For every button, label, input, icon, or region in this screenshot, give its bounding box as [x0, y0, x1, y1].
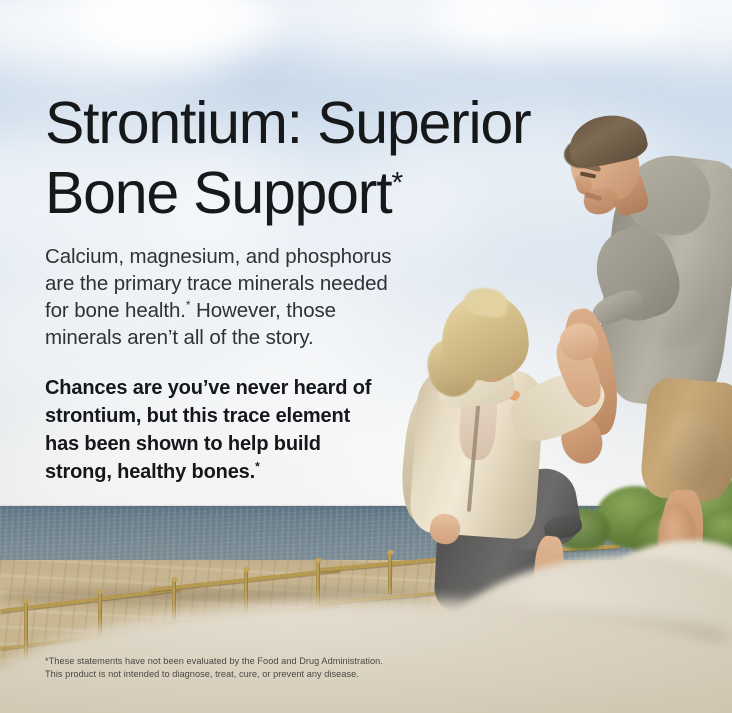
- title-line-1: Strontium: Superior: [45, 90, 530, 156]
- railing-knob: [315, 558, 322, 563]
- man-shorts-fold: [666, 412, 720, 490]
- legal-disclaimer: *These statements have not been evaluate…: [45, 655, 545, 682]
- title-line-2: Bone Support: [45, 160, 391, 226]
- intro-paragraph: Calcium, magnesium, and phosphorus are t…: [45, 243, 465, 351]
- railing-knob: [387, 550, 394, 555]
- promo-banner: Strontium: Superior Bone Support* Calciu…: [0, 0, 732, 713]
- highlight-line-1: Chances are you’ve never heard of: [45, 377, 371, 399]
- highlight-line-2: strontium, but this trace element: [45, 405, 350, 427]
- intro-line-3b: However, those: [190, 299, 336, 322]
- footnote-marker-icon: *: [255, 459, 260, 473]
- intro-line-3a: for bone health.: [45, 299, 186, 322]
- railing-knob: [171, 577, 178, 582]
- footnote-marker-icon: *: [391, 166, 403, 199]
- highlight-line-3: has been shown to help build: [45, 433, 321, 455]
- intro-line-1: Calcium, magnesium, and phosphorus: [45, 245, 391, 268]
- highlight-line-4: strong, healthy bones.: [45, 461, 255, 483]
- railing-knob: [243, 567, 250, 572]
- disclaimer-line-1: *These statements have not been evaluate…: [45, 655, 545, 668]
- intro-line-4: minerals aren’t all of the story.: [45, 326, 314, 349]
- railing-knob: [97, 589, 104, 594]
- page-title: Strontium: Superior Bone Support*: [45, 88, 685, 228]
- intro-line-2: are the primary trace minerals needed: [45, 272, 388, 295]
- railing-knob: [23, 599, 30, 604]
- railing-post: [388, 553, 392, 595]
- highlight-paragraph: Chances are you’ve never heard of stront…: [45, 374, 445, 486]
- disclaimer-line-2: This product is not intended to diagnose…: [45, 668, 545, 681]
